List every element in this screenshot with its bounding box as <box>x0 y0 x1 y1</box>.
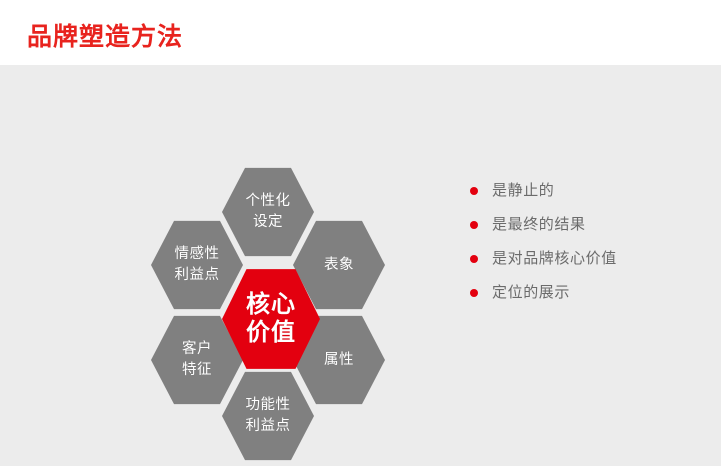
page-header: 品牌塑造方法 <box>0 0 721 65</box>
slide-body: 个性化 设定 情感性 利益点 表象 客户 特征 属性 功能性 利益点 核心 价值… <box>0 65 721 451</box>
list-item: 是对品牌核心价值 <box>470 242 695 276</box>
bullet-item-label: 是静止的 <box>492 181 554 201</box>
hexagon-node-upper-left[interactable]: 情感性 利益点 <box>151 219 243 311</box>
hexagon-node-top[interactable]: 个性化 设定 <box>222 166 314 258</box>
list-item: 是静止的 <box>470 174 695 208</box>
bullet-item-label: 是对品牌核心价值 <box>492 249 617 269</box>
bullet-dot-icon <box>470 221 478 229</box>
hexagon-node-upper-right-label: 表象 <box>324 255 354 276</box>
bullet-dot-icon <box>470 289 478 297</box>
bullet-dot-icon <box>470 255 478 263</box>
bullet-item-label: 定位的展示 <box>492 283 570 303</box>
hexagon-node-center-label: 核心 价值 <box>246 291 296 347</box>
hexagon-node-lower-right-label: 属性 <box>324 350 354 371</box>
hexagon-node-bottom-label: 功能性 利益点 <box>246 395 291 437</box>
bullet-list: 是静止的 是最终的结果 是对品牌核心价值 定位的展示 <box>470 174 695 310</box>
hexagon-node-top-label: 个性化 设定 <box>246 191 291 233</box>
bullet-dot-icon <box>470 187 478 195</box>
hexagon-node-upper-left-label: 情感性 利益点 <box>175 244 220 286</box>
page-title: 品牌塑造方法 <box>27 21 183 53</box>
bullet-item-label: 是最终的结果 <box>492 215 586 235</box>
hexagon-cluster-diagram: 个性化 设定 情感性 利益点 表象 客户 特征 属性 功能性 利益点 核心 价值 <box>130 161 410 466</box>
list-item: 是最终的结果 <box>470 208 695 242</box>
list-item: 定位的展示 <box>470 276 695 310</box>
hexagon-node-lower-left-label: 客户 特征 <box>182 339 212 381</box>
hexagon-node-bottom[interactable]: 功能性 利益点 <box>222 370 314 462</box>
